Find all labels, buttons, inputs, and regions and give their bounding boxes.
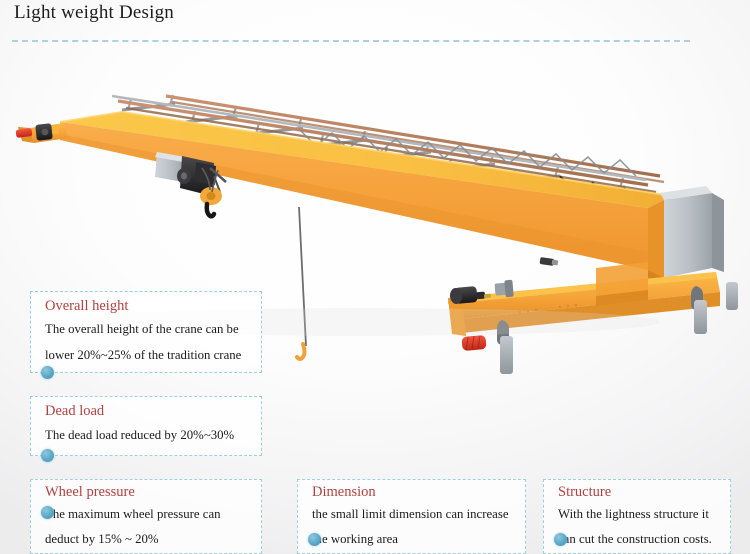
feature-line: the small limit dimension can increase bbox=[312, 508, 509, 521]
bullet-dot-icon bbox=[41, 366, 54, 379]
feature-title: Dimension bbox=[312, 485, 376, 501]
feature-card-structure[interactable]: Structure With the lightness structure i… bbox=[543, 479, 731, 554]
drive-coupling bbox=[495, 280, 514, 298]
wire-rope bbox=[299, 207, 306, 346]
end-carriage-right bbox=[448, 186, 738, 374]
travel-motor bbox=[449, 286, 491, 304]
bullet-dot-icon bbox=[41, 449, 54, 462]
page-title: Light weight Design bbox=[14, 2, 174, 24]
feature-line: the working area bbox=[312, 533, 398, 546]
girder-fitting bbox=[540, 257, 559, 266]
feature-card-dead-load[interactable]: Dead load The dead load reduced by 20%~3… bbox=[30, 396, 262, 456]
lifting-hook-assembly bbox=[297, 207, 306, 359]
electric-hoist-trolley bbox=[155, 152, 226, 216]
feature-card-wheel-pressure[interactable]: Wheel pressure The maximum wheel pressur… bbox=[30, 479, 262, 554]
feature-title: Wheel pressure bbox=[45, 485, 135, 501]
slide-root: Light weight Design bbox=[0, 0, 750, 554]
crane-illustration bbox=[0, 0, 750, 554]
feature-card-overall-height[interactable]: Overall height The overall height of the… bbox=[30, 291, 262, 373]
feature-title: Overall height bbox=[45, 299, 128, 315]
conductor-bar-rails bbox=[112, 95, 664, 198]
bullet-dot-icon bbox=[554, 533, 567, 546]
travel-wheels bbox=[497, 282, 738, 374]
feature-line: can cut the construction costs. bbox=[558, 533, 712, 546]
header-divider bbox=[12, 40, 690, 42]
bullet-dot-icon bbox=[308, 533, 321, 546]
feature-title: Structure bbox=[558, 485, 611, 501]
feature-line: With the lightness structure it bbox=[558, 508, 709, 521]
feature-line: deduct by 15% ~ 20% bbox=[45, 533, 159, 546]
feature-line: lower 20%~25% of the tradition crane bbox=[45, 349, 241, 362]
hook-icon bbox=[297, 344, 305, 359]
main-girder bbox=[60, 112, 672, 296]
feature-line: The dead load reduced by 20%~30% bbox=[45, 429, 234, 442]
end-carriage-left bbox=[16, 123, 68, 143]
bullet-dot-icon bbox=[41, 506, 54, 519]
feature-line: The maximum wheel pressure can bbox=[45, 508, 221, 521]
feature-card-dimension[interactable]: Dimension the small limit dimension can … bbox=[297, 479, 526, 554]
feature-title: Dead load bbox=[45, 404, 104, 420]
feature-line: The overall height of the crane can be bbox=[45, 323, 239, 336]
